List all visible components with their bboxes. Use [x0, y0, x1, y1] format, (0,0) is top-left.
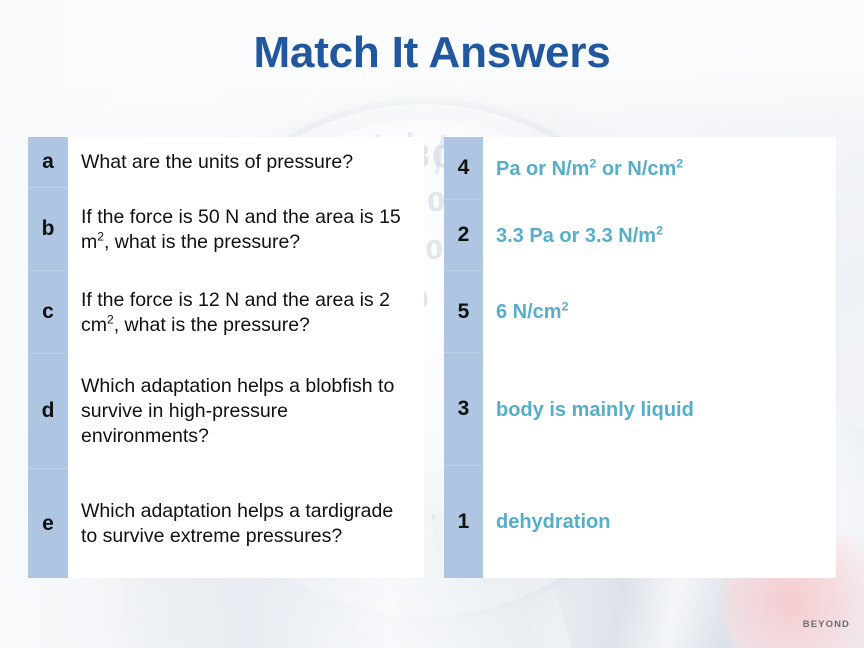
table-row: e Which adaptation helps a tardigrade to…	[28, 469, 424, 578]
answer-body: Pa or N/m2 or N/cm2	[496, 156, 683, 182]
page-title: Match It Answers	[0, 28, 864, 78]
question-key-e: e	[28, 469, 68, 578]
beyond-logo: BEYOND	[803, 619, 850, 630]
table-row: 4 Pa or N/m2 or N/cm2	[444, 137, 836, 200]
question-text-d: Which adaptation helps a blobfish to sur…	[68, 354, 424, 469]
question-body: If the force is 12 N and the area is 2 c…	[81, 288, 414, 338]
question-key-d: d	[28, 354, 68, 469]
answer-body: body is mainly liquid	[496, 397, 694, 423]
question-body: Which adaptation helps a blobfish to sur…	[81, 374, 414, 449]
answers-table: 4 Pa or N/m2 or N/cm2 2 3.3 Pa or 3.3 N/…	[444, 137, 836, 578]
table-row: c If the force is 12 N and the area is 2…	[28, 271, 424, 354]
answer-body: 3.3 Pa or 3.3 N/m2	[496, 223, 663, 249]
table-row: 3 body is mainly liquid	[444, 353, 836, 466]
question-text-e: Which adaptation helps a tardigrade to s…	[68, 469, 424, 578]
question-body: Which adaptation helps a tardigrade to s…	[81, 499, 414, 549]
question-key-c: c	[28, 271, 68, 354]
table-row: 2 3.3 Pa or 3.3 N/m2	[444, 200, 836, 271]
table-row: 5 6 N/cm2	[444, 271, 836, 353]
question-body: If the force is 50 N and the area is 15 …	[81, 205, 414, 255]
question-key-a: a	[28, 137, 68, 188]
answer-text-5: 6 N/cm2	[483, 271, 836, 353]
answer-key-1: 1	[444, 466, 483, 578]
answer-body: 6 N/cm2	[496, 299, 569, 325]
question-key-b: b	[28, 188, 68, 271]
answer-text-2: 3.3 Pa or 3.3 N/m2	[483, 200, 836, 271]
answer-body: dehydration	[496, 509, 610, 535]
question-text-b: If the force is 50 N and the area is 15 …	[68, 188, 424, 271]
answer-text-4: Pa or N/m2 or N/cm2	[483, 137, 836, 200]
table-row: d Which adaptation helps a blobfish to s…	[28, 354, 424, 469]
table-row: 1 dehydration	[444, 466, 836, 578]
answer-text-3: body is mainly liquid	[483, 353, 836, 466]
question-text-a: What are the units of pressure?	[68, 137, 424, 188]
table-row: a What are the units of pressure?	[28, 137, 424, 188]
answer-text-1: dehydration	[483, 466, 836, 578]
table-row: b If the force is 50 N and the area is 1…	[28, 188, 424, 271]
answer-key-5: 5	[444, 271, 483, 353]
answer-key-3: 3	[444, 353, 483, 466]
question-body: What are the units of pressure?	[81, 150, 353, 175]
questions-table: a What are the units of pressure? b If t…	[28, 137, 424, 578]
question-text-c: If the force is 12 N and the area is 2 c…	[68, 271, 424, 354]
slide-canvas: 30 20 10 0 Match It Answers a What are t…	[0, 0, 864, 648]
answer-key-2: 2	[444, 200, 483, 271]
answer-key-4: 4	[444, 137, 483, 200]
